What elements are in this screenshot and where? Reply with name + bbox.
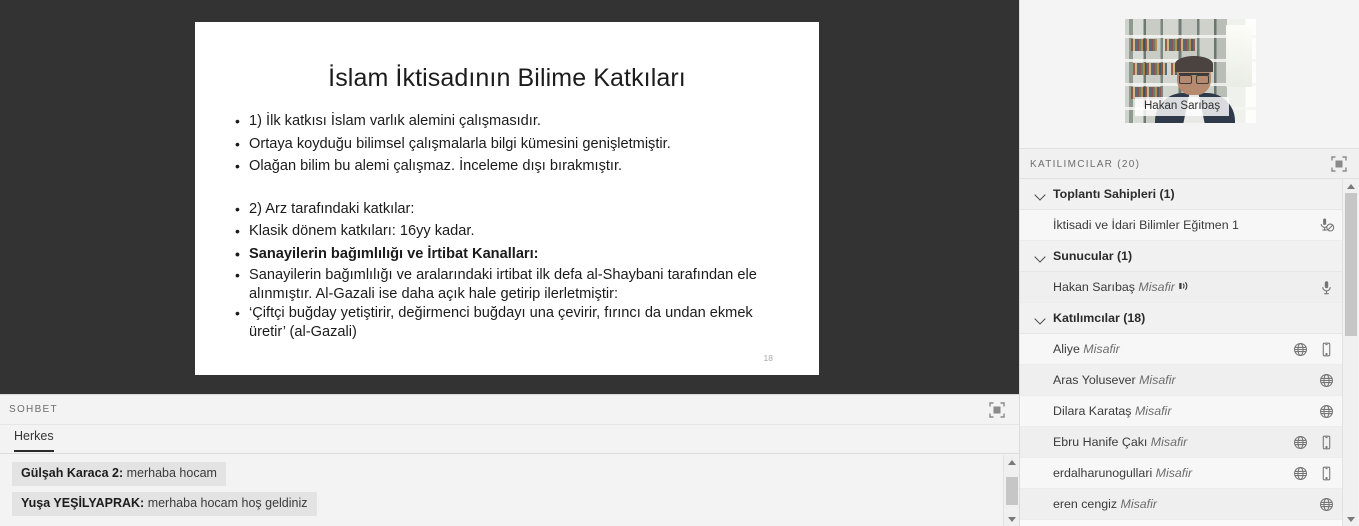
slide-bullet: Sanayilerin bağımlılığı ve İrtibat Kanal… (235, 244, 783, 266)
slide-bullet: Sanayilerin bağımlılığı ve aralarındaki … (235, 266, 783, 303)
participant-row[interactable]: Ebru Hanife Çakı Misafir (1020, 427, 1343, 458)
scroll-up-arrow-icon (1008, 460, 1016, 465)
participant-name: eren cengiz Misafir (1053, 497, 1157, 511)
chat-scrollbar-thumb[interactable] (1006, 477, 1018, 505)
phone-icon (1318, 434, 1335, 451)
participant-display-name: eren cengiz (1053, 497, 1117, 511)
scroll-down-arrow-icon (1008, 517, 1016, 522)
chevron-down-icon[interactable] (1036, 315, 1045, 324)
participant-display-name: Dilara Karataş (1053, 404, 1132, 418)
participants-group-header[interactable]: Katılımcılar (18) (1020, 303, 1343, 334)
chat-panel-title: SOHBET (9, 404, 58, 415)
chat-message-sender: Gülşah Karaca 2: (21, 466, 123, 480)
participant-role: Misafir (1080, 342, 1120, 356)
chat-scroll-down-button[interactable] (1004, 512, 1020, 526)
participant-name: Dilara Karataş Misafir (1053, 404, 1171, 418)
chat-popout-button[interactable] (986, 399, 1008, 421)
participant-row[interactable]: eren cengiz Misafir (1020, 489, 1343, 520)
books (1131, 39, 1157, 51)
globe-icon (1318, 372, 1335, 389)
popout-icon (986, 399, 1008, 421)
participant-name: Hakan Sarıbaş Misafir (1053, 280, 1190, 294)
participant-display-name: Hakan Sarıbaş (1053, 280, 1135, 294)
phone-icon (1318, 465, 1335, 482)
books (1165, 39, 1195, 51)
video-area: Hakan Sarıbaş (1020, 0, 1359, 148)
chat-message-row: Gülşah Karaca 2: merhaba hocam (0, 459, 1003, 489)
participant-status-icons (1318, 210, 1335, 241)
video-participant-name: Hakan Sarıbaş (1135, 97, 1229, 116)
chat-scroll-up-button[interactable] (1004, 455, 1020, 469)
participants-group-header[interactable]: Toplantı Sahipleri (1) (1020, 179, 1343, 210)
participant-row[interactable]: Hakan Sarıbaş Misafir (1020, 272, 1343, 303)
slide-bullet-list: 1) İlk katkısı İslam varlık alemini çalı… (235, 111, 783, 342)
presentation-slide[interactable]: İslam İktisadının Bilime Katkıları 1) İl… (195, 22, 819, 375)
chat-message-sender: Yuşa YEŞİLYAPRAK: (21, 496, 144, 510)
chat-message-text: merhaba hocam hoş geldiniz (144, 496, 307, 510)
participant-row[interactable]: erdalharunogullari Misafir (1020, 458, 1343, 489)
participant-role: Misafir (1147, 435, 1187, 449)
participants-header: KATILIMCILAR (20) (1020, 148, 1359, 179)
globe-icon (1292, 341, 1309, 358)
participants-group-label: Toplantı Sahipleri (1) (1053, 187, 1175, 201)
chat-message-row: Yuşa YEŞİLYAPRAK: merhaba hocam hoş geld… (0, 489, 1003, 519)
participant-role: Misafir (1117, 497, 1157, 511)
participants-group-label: Sunucular (1) (1053, 249, 1132, 263)
mic-muted-icon (1318, 217, 1335, 234)
scroll-up-arrow-icon (1347, 184, 1355, 189)
meeting-window: İslam İktisadının Bilime Katkıları 1) İl… (0, 0, 1359, 526)
participant-row[interactable]: İktisadi ve İdari Bilimler Eğitmen 1 (1020, 210, 1343, 241)
chat-tab-everyone[interactable]: Herkes (14, 429, 54, 452)
participant-row[interactable]: Dilara Karataş Misafir (1020, 396, 1343, 427)
participant-display-name: Aras Yolusever (1053, 373, 1136, 387)
participants-panel-title: KATILIMCILAR (20) (1030, 159, 1140, 170)
chat-message-text: merhaba hocam (123, 466, 217, 480)
slide-bullet: 2) Arz tarafındaki katkılar: (235, 199, 783, 221)
slide-bullet: Olağan bilim bu alemi çalışmaz. İnceleme… (235, 156, 783, 178)
participant-status-icons (1318, 365, 1335, 396)
participants-scrollbar[interactable] (1342, 179, 1358, 526)
slide-bullet: Ortaya koyduğu bilimsel çalışmalarla bil… (235, 134, 783, 156)
person-hair (1175, 56, 1213, 72)
participants-popout-button[interactable] (1328, 153, 1350, 175)
chat-message: Yuşa YEŞİLYAPRAK: merhaba hocam hoş geld… (12, 492, 317, 516)
chat-scrollbar[interactable] (1003, 455, 1019, 526)
participant-status-icons (1318, 489, 1335, 520)
speaking-indicator-icon (1178, 280, 1190, 292)
chat-message-list: Gülşah Karaca 2: merhaba hocamYuşa YEŞİL… (0, 455, 1003, 526)
chat-header: SOHBET (0, 395, 1019, 425)
participant-role: Misafir (1135, 280, 1175, 294)
participant-name: Aliye Misafir (1053, 342, 1120, 356)
books (1133, 63, 1167, 75)
window-light (1226, 25, 1252, 87)
phone-icon (1318, 341, 1335, 358)
participant-status-icons (1292, 427, 1335, 458)
person-glasses (1179, 73, 1209, 80)
participant-status-icons (1318, 272, 1335, 303)
slide-title: İslam İktisadının Bilime Katkıları (195, 64, 819, 93)
participant-role: Misafir (1152, 466, 1192, 480)
participant-display-name: İktisadi ve İdari Bilimler Eğitmen 1 (1053, 218, 1239, 232)
participant-row[interactable]: Aliye Misafir (1020, 334, 1343, 365)
chat-tab-bar: Herkes (0, 425, 1019, 454)
participant-role: Misafir (1136, 373, 1176, 387)
participants-scroll-down-button[interactable] (1343, 512, 1359, 526)
chat-panel: SOHBET Herkes Gülşah Karaca 2: merhaba h… (0, 394, 1019, 526)
popout-icon (1328, 153, 1350, 175)
slide-bullet: ‘Çiftçi buğday yetiştirir, değirmenci bu… (235, 304, 783, 341)
globe-icon (1318, 403, 1335, 420)
participant-row[interactable]: Aras Yolusever Misafir (1020, 365, 1343, 396)
shared-screen-stage: İslam İktisadının Bilime Katkıları 1) İl… (0, 0, 1019, 394)
participant-display-name: Aliye (1053, 342, 1080, 356)
slide-page-number: 18 (764, 353, 773, 363)
participant-display-name: erdalharunogullari (1053, 466, 1152, 480)
chevron-down-icon[interactable] (1036, 191, 1045, 200)
participant-status-icons (1318, 396, 1335, 427)
video-tile-hakan-saribas[interactable]: Hakan Sarıbaş (1125, 19, 1256, 123)
participants-scroll-up-button[interactable] (1343, 179, 1359, 193)
participant-status-icons (1292, 334, 1335, 365)
participants-scrollbar-thumb[interactable] (1345, 193, 1357, 336)
globe-icon (1318, 496, 1335, 513)
slide-bullet: Klasik dönem katkıları: 16yy kadar. (235, 221, 783, 243)
scroll-down-arrow-icon (1347, 517, 1355, 522)
participants-group-header[interactable]: Sunucular (1) (1020, 241, 1343, 272)
participant-name: erdalharunogullari Misafir (1053, 466, 1192, 480)
participant-display-name: Ebru Hanife Çakı (1053, 435, 1147, 449)
chat-message: Gülşah Karaca 2: merhaba hocam (12, 462, 226, 486)
globe-icon (1292, 465, 1309, 482)
right-sidebar: Hakan Sarıbaş KATILIMCILAR (20) Toplantı… (1019, 0, 1359, 526)
mic-icon (1318, 279, 1335, 296)
participant-name: Ebru Hanife Çakı Misafir (1053, 435, 1187, 449)
participant-name: İktisadi ve İdari Bilimler Eğitmen 1 (1053, 218, 1239, 232)
participants-group-label: Katılımcılar (18) (1053, 311, 1145, 325)
participant-role: Misafir (1132, 404, 1172, 418)
globe-icon (1292, 434, 1309, 451)
participants-list: Toplantı Sahipleri (1)İktisadi ve İdari … (1020, 179, 1343, 526)
participant-status-icons (1292, 458, 1335, 489)
slide-bullet: 1) İlk katkısı İslam varlık alemini çalı… (235, 111, 783, 133)
chevron-down-icon[interactable] (1036, 253, 1045, 262)
participant-name: Aras Yolusever Misafir (1053, 373, 1176, 387)
